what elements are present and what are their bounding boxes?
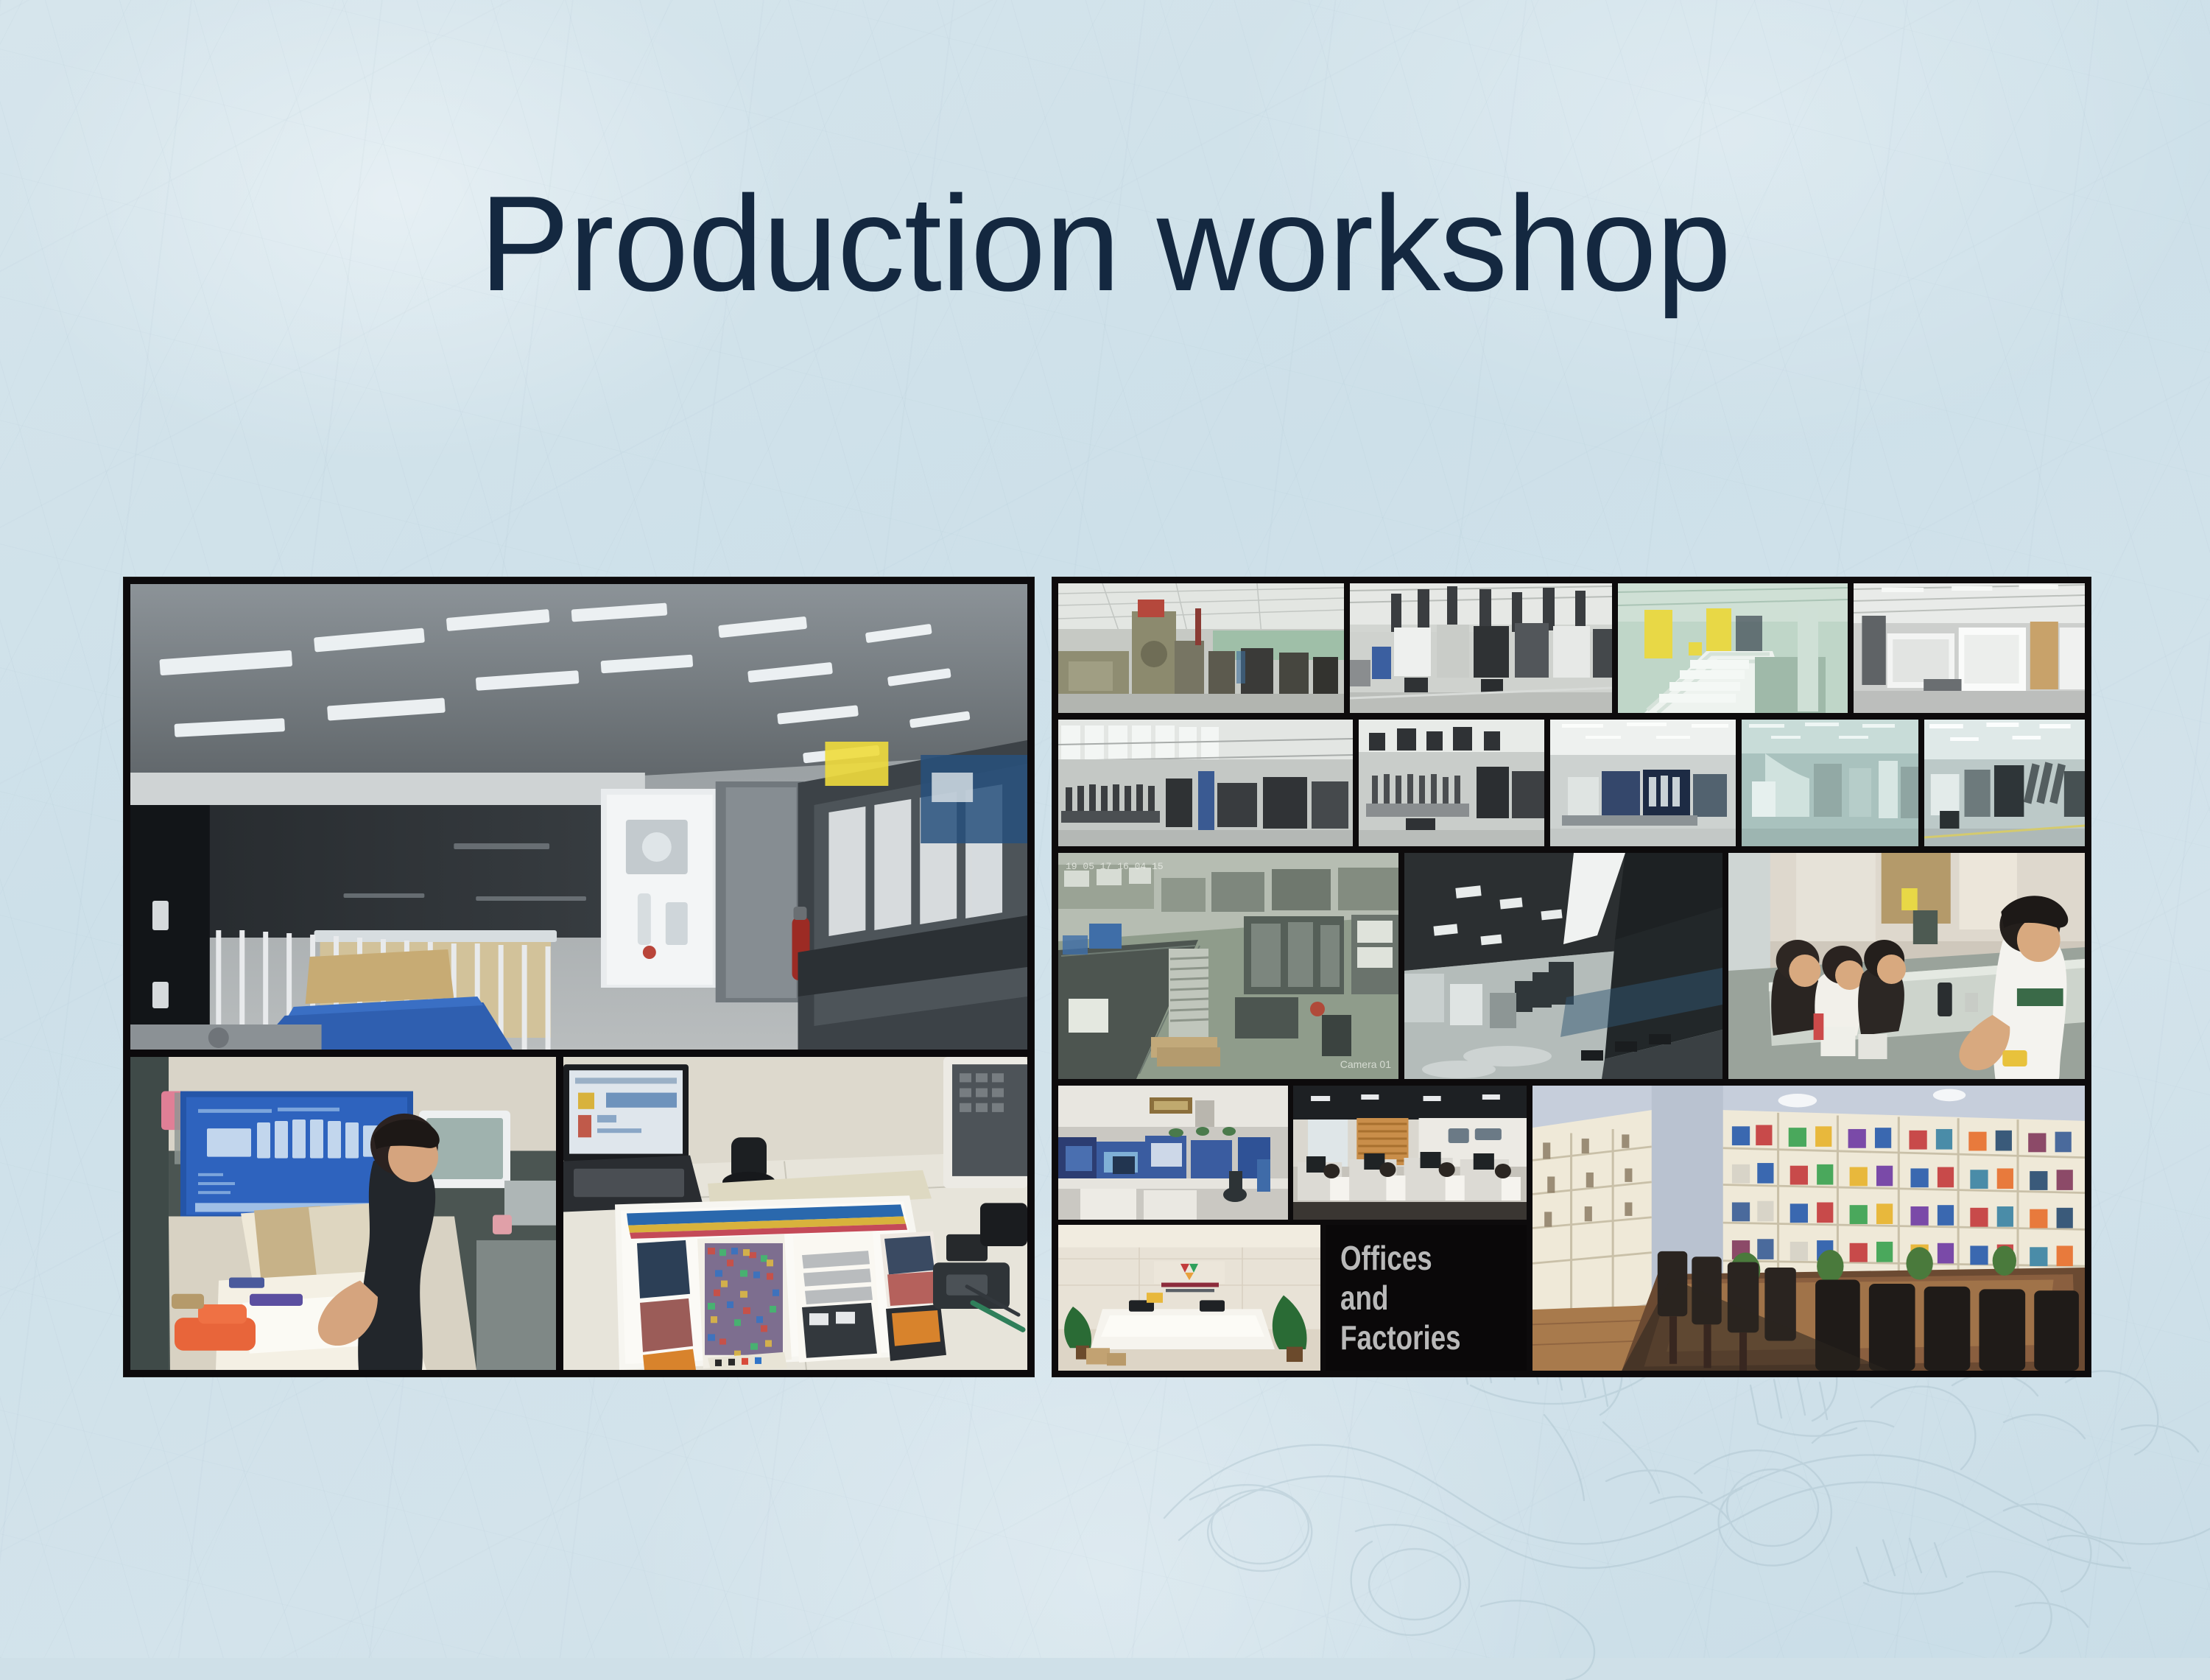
collage-row-4: Offices and Factories bbox=[1058, 1086, 2085, 1371]
photo-row-bottom bbox=[130, 1057, 1027, 1370]
photo-colour-proofing-desk[interactable] bbox=[563, 1057, 1027, 1370]
photo-cctv-assembly-line[interactable]: Camera 01 19 05 17 16 04 15 bbox=[1058, 853, 1398, 1079]
photo-row-top bbox=[130, 584, 1027, 1050]
collage-row-4-left-cluster: Offices and Factories bbox=[1058, 1086, 1527, 1371]
photo-press-console-operator[interactable] bbox=[130, 1057, 556, 1370]
collage-row-2 bbox=[1058, 720, 2085, 846]
photo-press-hall[interactable] bbox=[130, 584, 1027, 1050]
photo-clean-room-teal[interactable] bbox=[1742, 720, 1918, 846]
photo-blue-cubicle-office[interactable] bbox=[1058, 1086, 1288, 1220]
photo-staff-workstations[interactable] bbox=[1293, 1086, 1527, 1220]
photo-hanging-tooling[interactable] bbox=[1359, 720, 1544, 846]
photo-dark-press-hall[interactable] bbox=[1404, 853, 1722, 1079]
photo-lit-assembly-hall[interactable] bbox=[1924, 720, 2085, 846]
offices-and-factories-collage[interactable]: Camera 01 19 05 17 16 04 15 bbox=[1052, 577, 2091, 1377]
photo-workers-at-bench[interactable] bbox=[1728, 853, 2085, 1079]
cctv-camera-label: Camera 01 bbox=[1340, 1058, 1391, 1070]
label-line-offices: Offices bbox=[1340, 1238, 1489, 1278]
printing-press-panel[interactable] bbox=[123, 577, 1035, 1377]
page-title: Production workshop bbox=[0, 175, 2210, 311]
collage-row-4-offices bbox=[1058, 1086, 1527, 1220]
label-line-factories: Factories bbox=[1340, 1318, 1489, 1357]
offices-and-factories-label-card: Offices and Factories bbox=[1326, 1225, 1527, 1371]
photo-reception-lobby[interactable] bbox=[1058, 1225, 1320, 1371]
photo-windowed-bindery[interactable] bbox=[1058, 720, 1353, 846]
collage-row-4-lobby-and-label: Offices and Factories bbox=[1058, 1225, 1527, 1371]
photo-green-stairwell[interactable] bbox=[1618, 583, 1848, 713]
photo-press-line-overhead[interactable] bbox=[1350, 583, 1612, 713]
collage-row-1 bbox=[1058, 583, 2085, 713]
photo-offset-press-blue[interactable] bbox=[1550, 720, 1736, 846]
photo-showroom-meeting-room[interactable] bbox=[1532, 1086, 2085, 1371]
cctv-timestamp: 19 05 17 16 04 15 bbox=[1066, 861, 1164, 872]
photo-white-machine-room[interactable] bbox=[1854, 583, 2085, 713]
label-line-and: and bbox=[1340, 1278, 1489, 1318]
photo-machine-shop-wide[interactable] bbox=[1058, 583, 1344, 713]
collage-row-3: Camera 01 19 05 17 16 04 15 bbox=[1058, 853, 2085, 1079]
